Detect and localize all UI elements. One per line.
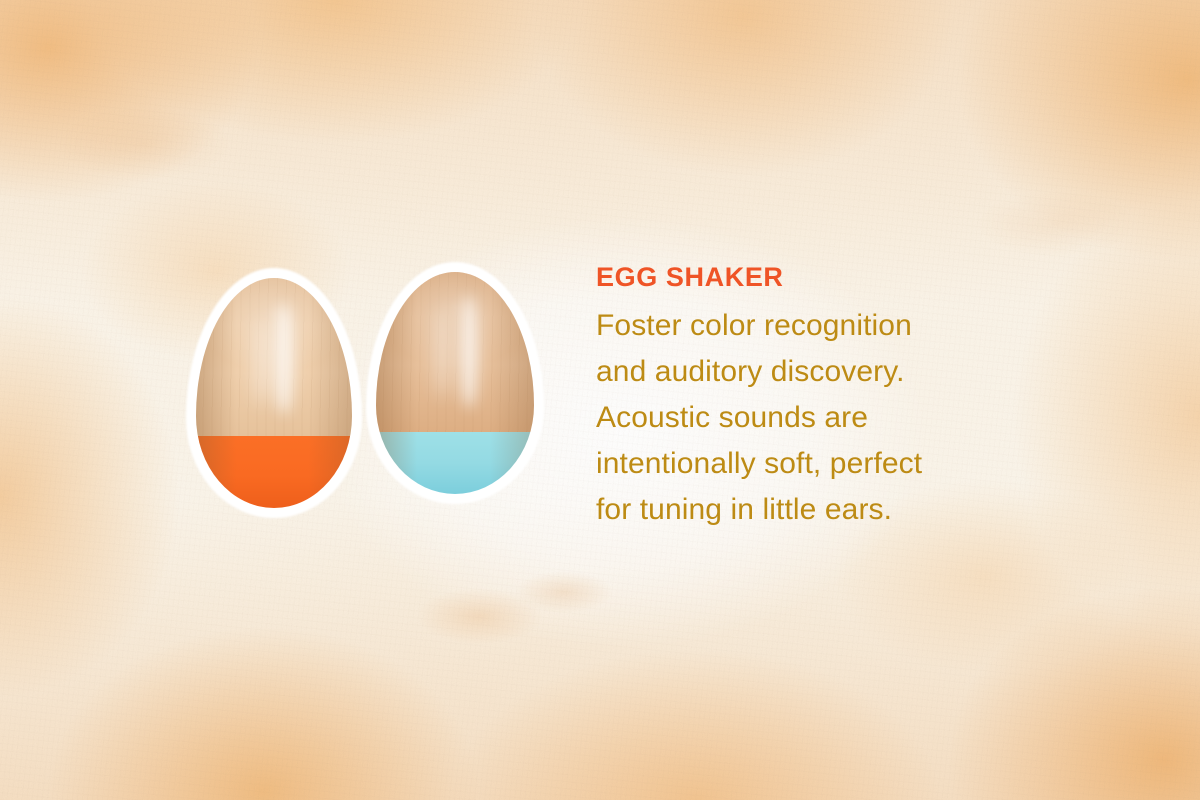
description-line-1: Foster color recognition <box>596 303 1076 349</box>
description-line-4: intentionally soft, perfect <box>596 441 1076 487</box>
product-description: Foster color recognition and auditory di… <box>596 293 1076 533</box>
orange-egg-body <box>196 278 352 508</box>
description-line-2: and auditory discovery. <box>596 349 1076 395</box>
orange-egg-edge-shading <box>196 278 352 508</box>
blue-egg-edge-shading <box>376 272 534 494</box>
product-text-block: EGG SHAKER Foster color recognition and … <box>596 262 1076 533</box>
description-line-3: Acoustic sounds are <box>596 395 1076 441</box>
product-feature-card: EGG SHAKER Foster color recognition and … <box>0 0 1200 800</box>
blue-egg-body <box>376 272 534 494</box>
product-title: EGG SHAKER <box>596 262 1076 293</box>
blue-egg-shaker <box>366 262 544 504</box>
description-line-5: for tuning in little ears. <box>596 487 1076 533</box>
orange-egg-shaker <box>186 268 362 518</box>
